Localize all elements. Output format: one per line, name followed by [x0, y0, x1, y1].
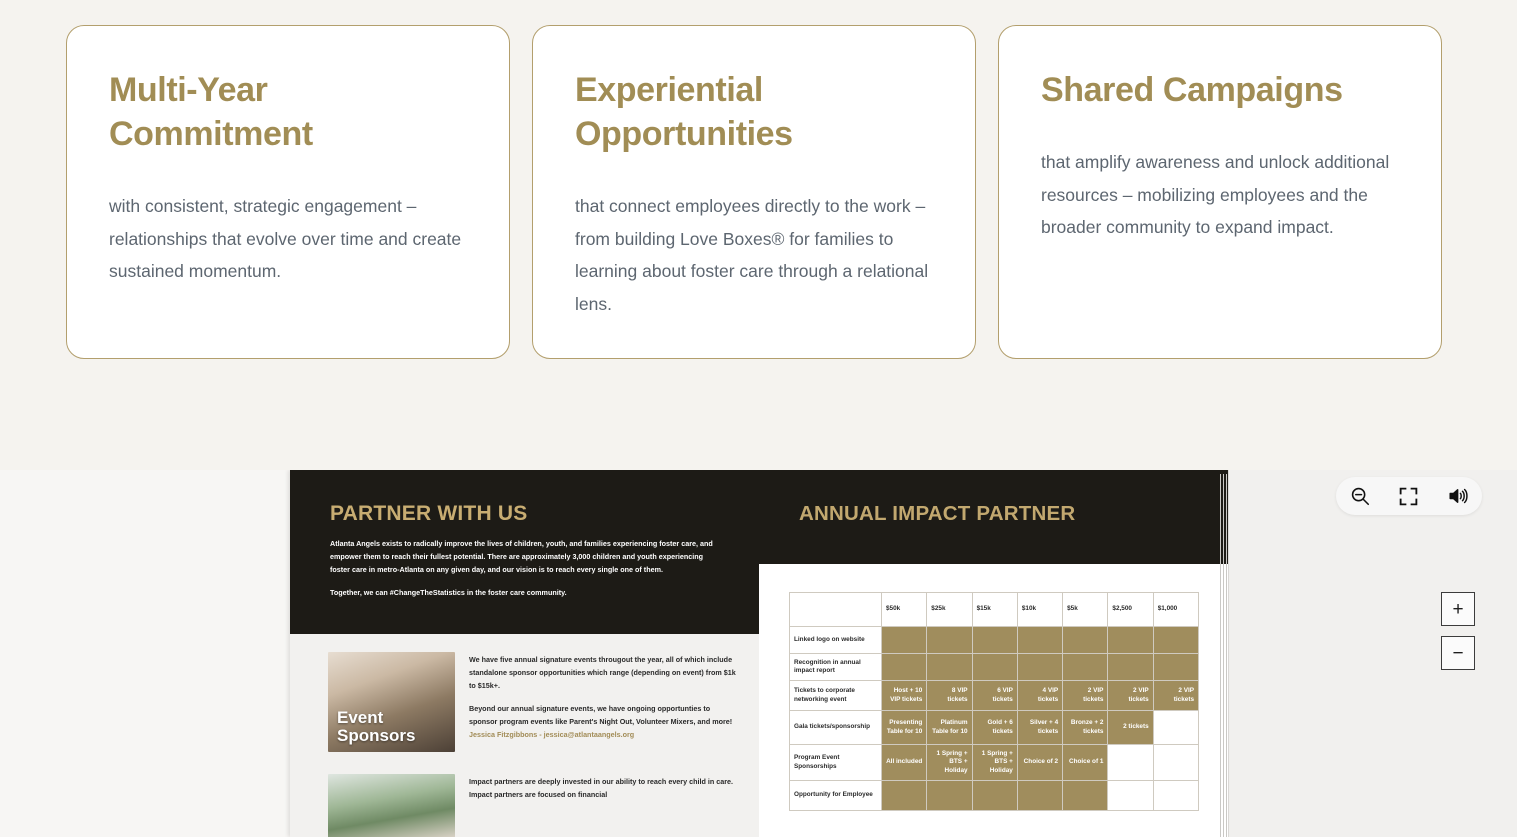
table-cell [1063, 781, 1108, 811]
column-header-50k: $50k [882, 593, 927, 627]
table-cell: Host + 10 VIP tickets [882, 681, 927, 711]
table-cell: 6 VIP tickets [972, 681, 1017, 711]
viewer-toolbar [1336, 477, 1482, 515]
table-cell [1063, 627, 1108, 654]
table-cell: Presenting Table for 10 [882, 711, 927, 745]
table-row: Gala tickets/sponsorship Presenting Tabl… [790, 711, 1199, 745]
impact-partners-text: Impact partners are deeply invested in o… [469, 774, 737, 837]
table-cell [972, 627, 1017, 654]
left-page-header: PARTNER WITH US Atlanta Angels exists to… [290, 470, 759, 634]
left-page-paragraph-1: Atlanta Angels exists to radically impro… [330, 538, 719, 576]
event-sponsors-photo-label: Event Sponsors [337, 709, 455, 744]
table-cell: Gold + 6 tickets [972, 711, 1017, 745]
table-row: Program Event Sponsorships All included … [790, 745, 1199, 781]
table-cell [882, 627, 927, 654]
column-header-10k: $10k [1017, 593, 1062, 627]
table-cell [927, 627, 972, 654]
benefit-card-title: Experiential Opportunities [575, 68, 933, 156]
table-cell [1153, 781, 1198, 811]
benefit-card-body: that amplify awareness and unlock additi… [1041, 146, 1399, 243]
table-cell [1153, 711, 1198, 745]
table-cell [1153, 627, 1198, 654]
row-label: Recognition in annual impact report [790, 654, 882, 681]
table-cell: Silver + 4 tickets [1017, 711, 1062, 745]
left-page-paragraph-2: Together, we can #ChangeTheStatistics in… [330, 587, 719, 600]
table-cell: 4 VIP tickets [1017, 681, 1062, 711]
fullscreen-icon[interactable] [1392, 481, 1426, 511]
event-sponsors-photo: Event Sponsors [328, 652, 455, 752]
column-header-15k: $15k [972, 593, 1017, 627]
impact-partners-paragraph-1: Impact partners are deeply invested in o… [469, 776, 737, 802]
event-sponsors-paragraph-1: We have five annual signature events thr… [469, 654, 737, 693]
row-label: Tickets to corporate networking event [790, 681, 882, 711]
table-cell: Bronze + 2 tickets [1063, 711, 1108, 745]
benefit-card-body: with consistent, strategic engagement – … [109, 190, 467, 287]
table-cell [882, 781, 927, 811]
event-sponsors-text: We have five annual signature events thr… [469, 652, 737, 752]
benefits-section: Multi-Year Commitment with consistent, s… [0, 0, 1517, 470]
table-cell [1108, 627, 1153, 654]
event-sponsors-contact: Jessica Fitzgibbons - jessica@atlantaang… [469, 730, 737, 739]
table-cell [1153, 745, 1198, 781]
benefit-card-body: that connect employees directly to the w… [575, 190, 933, 320]
volume-icon[interactable] [1441, 481, 1475, 511]
table-cell: Choice of 2 [1017, 745, 1062, 781]
table-cell: 2 VIP tickets [1108, 681, 1153, 711]
column-header-blank [790, 593, 882, 627]
column-header-5k: $5k [1063, 593, 1108, 627]
table-cell: 2 VIP tickets [1153, 681, 1198, 711]
column-header-2500: $2,500 [1108, 593, 1153, 627]
sponsor-table-head: $50k $25k $15k $10k $5k $2,500 $1,000 [790, 593, 1199, 627]
table-cell [972, 781, 1017, 811]
benefit-card-experiential-opportunities: Experiential Opportunities that connect … [532, 25, 976, 359]
sponsor-table-wrap: $50k $25k $15k $10k $5k $2,500 $1,000 [759, 564, 1228, 811]
right-page-header: ANNUAL IMPACT PARTNER [759, 470, 1228, 564]
left-page-heading: PARTNER WITH US [330, 502, 719, 526]
table-cell [1153, 654, 1198, 681]
document-page-left: PARTNER WITH US Atlanta Angels exists to… [290, 470, 759, 837]
document-spread[interactable]: PARTNER WITH US Atlanta Angels exists to… [290, 470, 1228, 837]
left-page-body: Event Sponsors We have five annual signa… [290, 634, 759, 837]
zoom-stepper: + − [1441, 592, 1477, 670]
table-cell [972, 654, 1017, 681]
table-cell [1017, 654, 1062, 681]
table-cell [1108, 781, 1153, 811]
column-header-25k: $25k [927, 593, 972, 627]
table-cell: 8 VIP tickets [927, 681, 972, 711]
table-cell [1017, 627, 1062, 654]
table-cell: 2 tickets [1108, 711, 1153, 745]
document-viewer[interactable]: PARTNER WITH US Atlanta Angels exists to… [0, 470, 1517, 837]
benefits-card-row: Multi-Year Commitment with consistent, s… [66, 25, 1442, 359]
sponsor-levels-table: $50k $25k $15k $10k $5k $2,500 $1,000 [789, 592, 1199, 811]
table-row: Opportunity for Employee [790, 781, 1199, 811]
sponsor-block-event-sponsors: Event Sponsors We have five annual signa… [328, 652, 745, 752]
column-header-1000: $1,000 [1153, 593, 1198, 627]
table-header-row: $50k $25k $15k $10k $5k $2,500 $1,000 [790, 593, 1199, 627]
table-cell: Choice of 1 [1063, 745, 1108, 781]
table-cell: Platinum Table for 10 [927, 711, 972, 745]
right-page-heading: ANNUAL IMPACT PARTNER [799, 502, 1188, 526]
table-cell [927, 781, 972, 811]
screen: Multi-Year Commitment with consistent, s… [0, 0, 1517, 837]
zoom-in-button[interactable]: + [1441, 592, 1475, 626]
table-cell: 1 Spring + BTS + Holiday [972, 745, 1017, 781]
table-cell [927, 654, 972, 681]
table-cell [1063, 654, 1108, 681]
event-sponsors-paragraph-2: Beyond our annual signature events, we h… [469, 703, 737, 729]
table-cell [1108, 745, 1153, 781]
document-page-right: ANNUAL IMPACT PARTNER $50k $25k $15k $10… [759, 470, 1228, 837]
table-cell [1108, 654, 1153, 681]
table-cell: All included [882, 745, 927, 781]
table-row: Tickets to corporate networking event Ho… [790, 681, 1199, 711]
benefit-card-title: Multi-Year Commitment [109, 68, 467, 156]
table-cell: 1 Spring + BTS + Holiday [927, 745, 972, 781]
sponsor-block-impact-partners: Impact partners are deeply invested in o… [328, 774, 745, 837]
table-cell [882, 654, 927, 681]
row-label: Program Event Sponsorships [790, 745, 882, 781]
table-row: Recognition in annual impact report [790, 654, 1199, 681]
zoom-out-button[interactable]: − [1441, 636, 1475, 670]
page-stack-edges [1218, 474, 1230, 837]
benefit-card-shared-campaigns: Shared Campaigns that amplify awareness … [998, 25, 1442, 359]
zoom-out-icon[interactable] [1343, 481, 1377, 511]
table-row: Linked logo on website [790, 627, 1199, 654]
table-cell [1017, 781, 1062, 811]
sponsor-table-body: Linked logo on website Recognition [790, 627, 1199, 811]
row-label: Gala tickets/sponsorship [790, 711, 882, 745]
row-label: Opportunity for Employee [790, 781, 882, 811]
benefit-card-multi-year-commitment: Multi-Year Commitment with consistent, s… [66, 25, 510, 359]
row-label: Linked logo on website [790, 627, 882, 654]
impact-partners-photo [328, 774, 455, 837]
table-cell: 2 VIP tickets [1063, 681, 1108, 711]
benefit-card-title: Shared Campaigns [1041, 68, 1399, 112]
